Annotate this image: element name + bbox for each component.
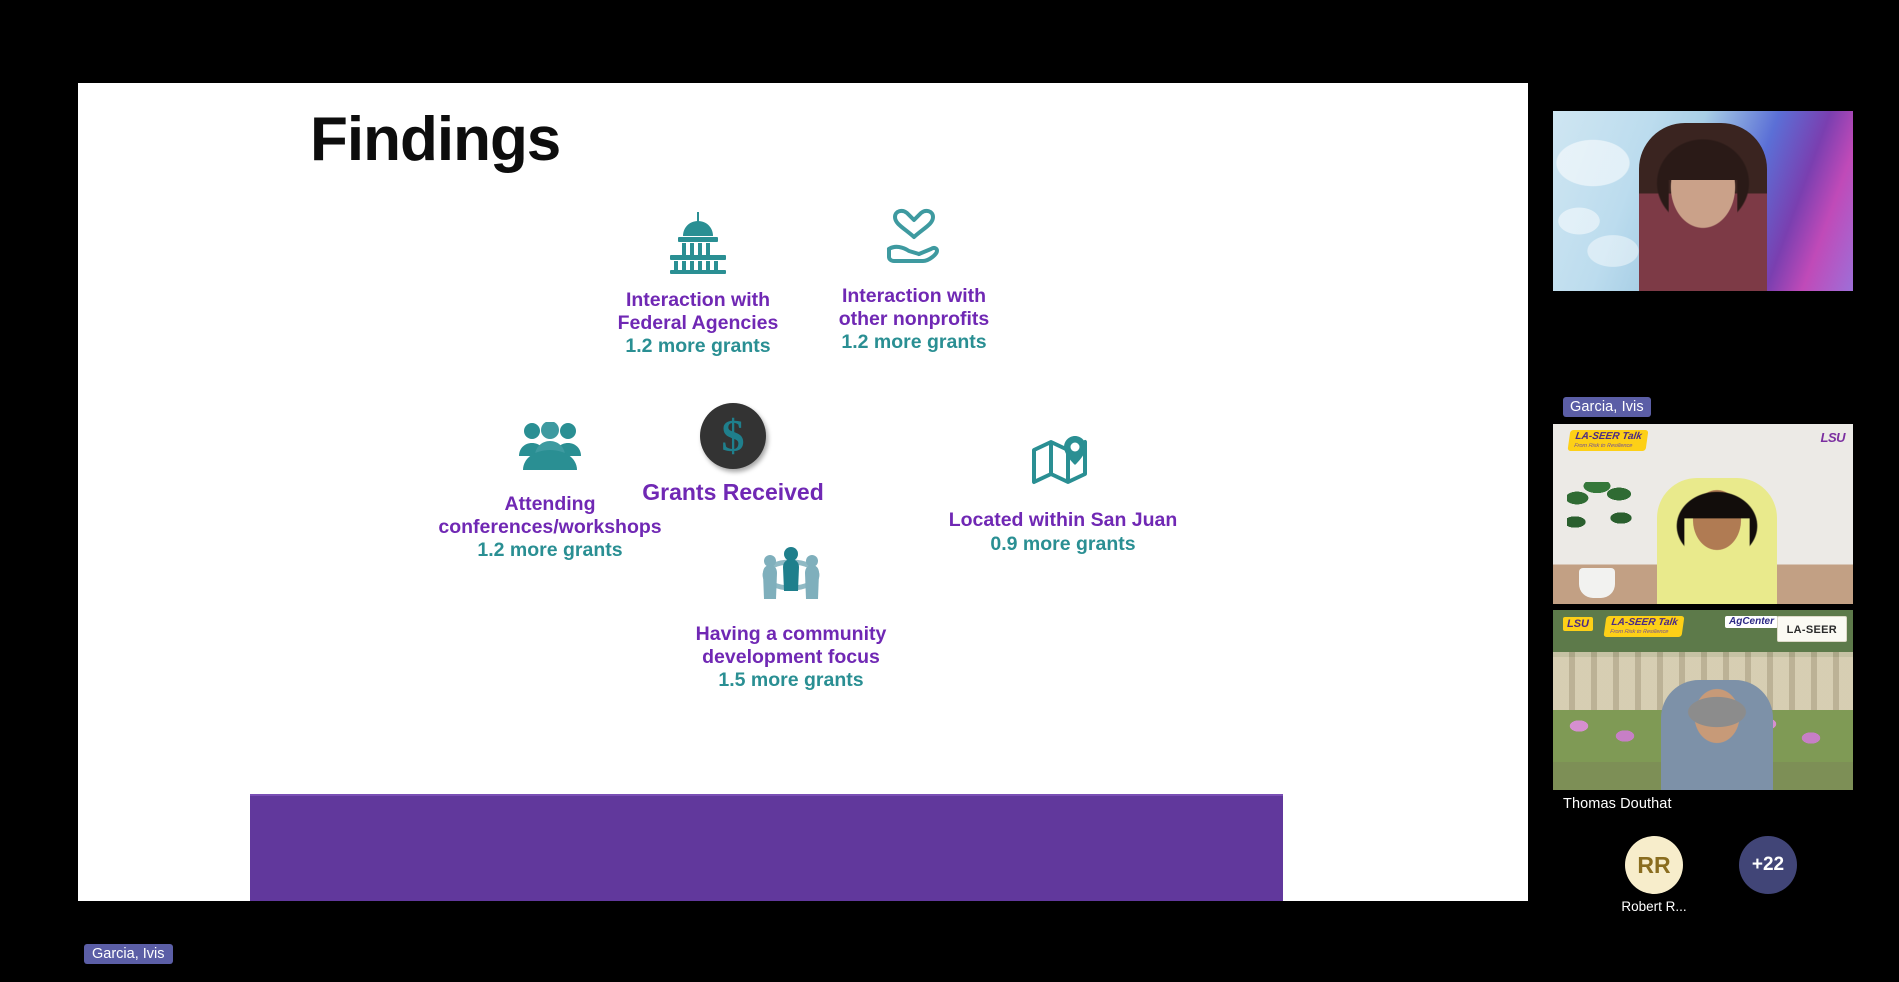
- map-pin-icon: [933, 421, 1193, 503]
- center-node-grants-received: $ Grants Received: [633, 403, 833, 506]
- participant-avatar-robert[interactable]: RR Robert R...: [1599, 836, 1709, 914]
- la-seer-title: LA-SEER Talk: [1575, 432, 1643, 443]
- finding-label: Having a community development focus: [666, 623, 916, 668]
- finding-value: 0.9 more grants: [933, 533, 1193, 556]
- overflow-count: +22: [1739, 836, 1797, 894]
- la-seer-talk-overlay: LA-SEER Talk From Risk to Resilience: [1568, 430, 1649, 451]
- pot-decoration: [1579, 568, 1615, 598]
- agcenter-label: AgCenter: [1729, 617, 1774, 627]
- participant-name-label: Thomas Douthat: [1553, 790, 1853, 812]
- finding-located-san-juan: Located within San Juan 0.9 more grants: [933, 421, 1193, 556]
- video-feed: LSU LA-SEER Talk From Risk to Resilience…: [1553, 610, 1853, 790]
- heart-in-hand-icon: [794, 197, 1034, 279]
- participant-name-badge: Garcia, Ivis: [1563, 397, 1651, 417]
- capitol-building-icon: [578, 201, 818, 283]
- finding-label: Located within San Juan: [933, 509, 1193, 532]
- participant-tile-garcia-ivis[interactable]: Garcia, Ivis: [1553, 111, 1853, 291]
- avatar: RR: [1625, 836, 1683, 894]
- participant-rail: Garcia, Ivis LA-SEER Talk From Risk to R…: [1553, 0, 1899, 982]
- lsu-logo: LSU: [1821, 430, 1846, 445]
- la-seer-talk-overlay: LA-SEER Talk From Risk to Resilience: [1604, 616, 1685, 637]
- avatar-name-label: Robert R...: [1599, 899, 1709, 914]
- video-feed: [1553, 111, 1853, 291]
- participant-tile-thomas-douthat[interactable]: LSU LA-SEER Talk From Risk to Resilience…: [1553, 610, 1853, 812]
- center-node-label: Grants Received: [633, 479, 833, 506]
- finding-value: 1.2 more grants: [794, 331, 1034, 354]
- la-seer-title: LA-SEER Talk: [1611, 618, 1679, 629]
- participant-video-hair: [1671, 688, 1763, 728]
- page-title: Findings: [310, 109, 560, 171]
- dollar-symbol: $: [722, 413, 745, 459]
- lsu-logo: LSU: [1563, 617, 1593, 631]
- meeting-screen-share-view: Findings: [0, 0, 1899, 982]
- avatar-row: RR Robert R... +22: [1553, 836, 1853, 956]
- la-seer-subtitle: From Risk to Resilience: [1610, 629, 1677, 635]
- finding-federal-agencies: Interaction with Federal Agencies 1.2 mo…: [578, 201, 818, 359]
- community-circle-icon: [666, 535, 916, 617]
- la-seer-subtitle: From Risk to Resilience: [1574, 443, 1641, 449]
- finding-value: 1.5 more grants: [666, 669, 916, 692]
- lsu-agcenter-logo: AgCenter: [1725, 616, 1778, 628]
- dollar-sign-icon: $: [700, 403, 766, 469]
- finding-other-nonprofits: Interaction with other nonprofits 1.2 mo…: [794, 197, 1034, 355]
- finding-label: Interaction with Federal Agencies: [578, 289, 818, 334]
- finding-label: Interaction with other nonprofits: [794, 285, 1034, 330]
- presentation-slide: Findings: [78, 83, 1528, 901]
- finding-value: 1.2 more grants: [578, 335, 818, 358]
- participant-tile-dilruba-akter[interactable]: LA-SEER Talk From Risk to Resilience LSU…: [1553, 424, 1853, 626]
- finding-community-development: Having a community development focus 1.5…: [666, 535, 916, 693]
- la-seer-label: LA-SEER: [1787, 624, 1837, 636]
- active-speaker-badge: Garcia, Ivis: [84, 944, 173, 964]
- video-feed: LA-SEER Talk From Risk to Resilience LSU: [1553, 424, 1853, 604]
- participant-overflow-badge[interactable]: +22: [1713, 836, 1823, 894]
- la-seer-logo-box: LA-SEER: [1777, 616, 1847, 642]
- finding-value: 1.2 more grants: [420, 539, 680, 562]
- slide-footer-banner: [250, 794, 1283, 901]
